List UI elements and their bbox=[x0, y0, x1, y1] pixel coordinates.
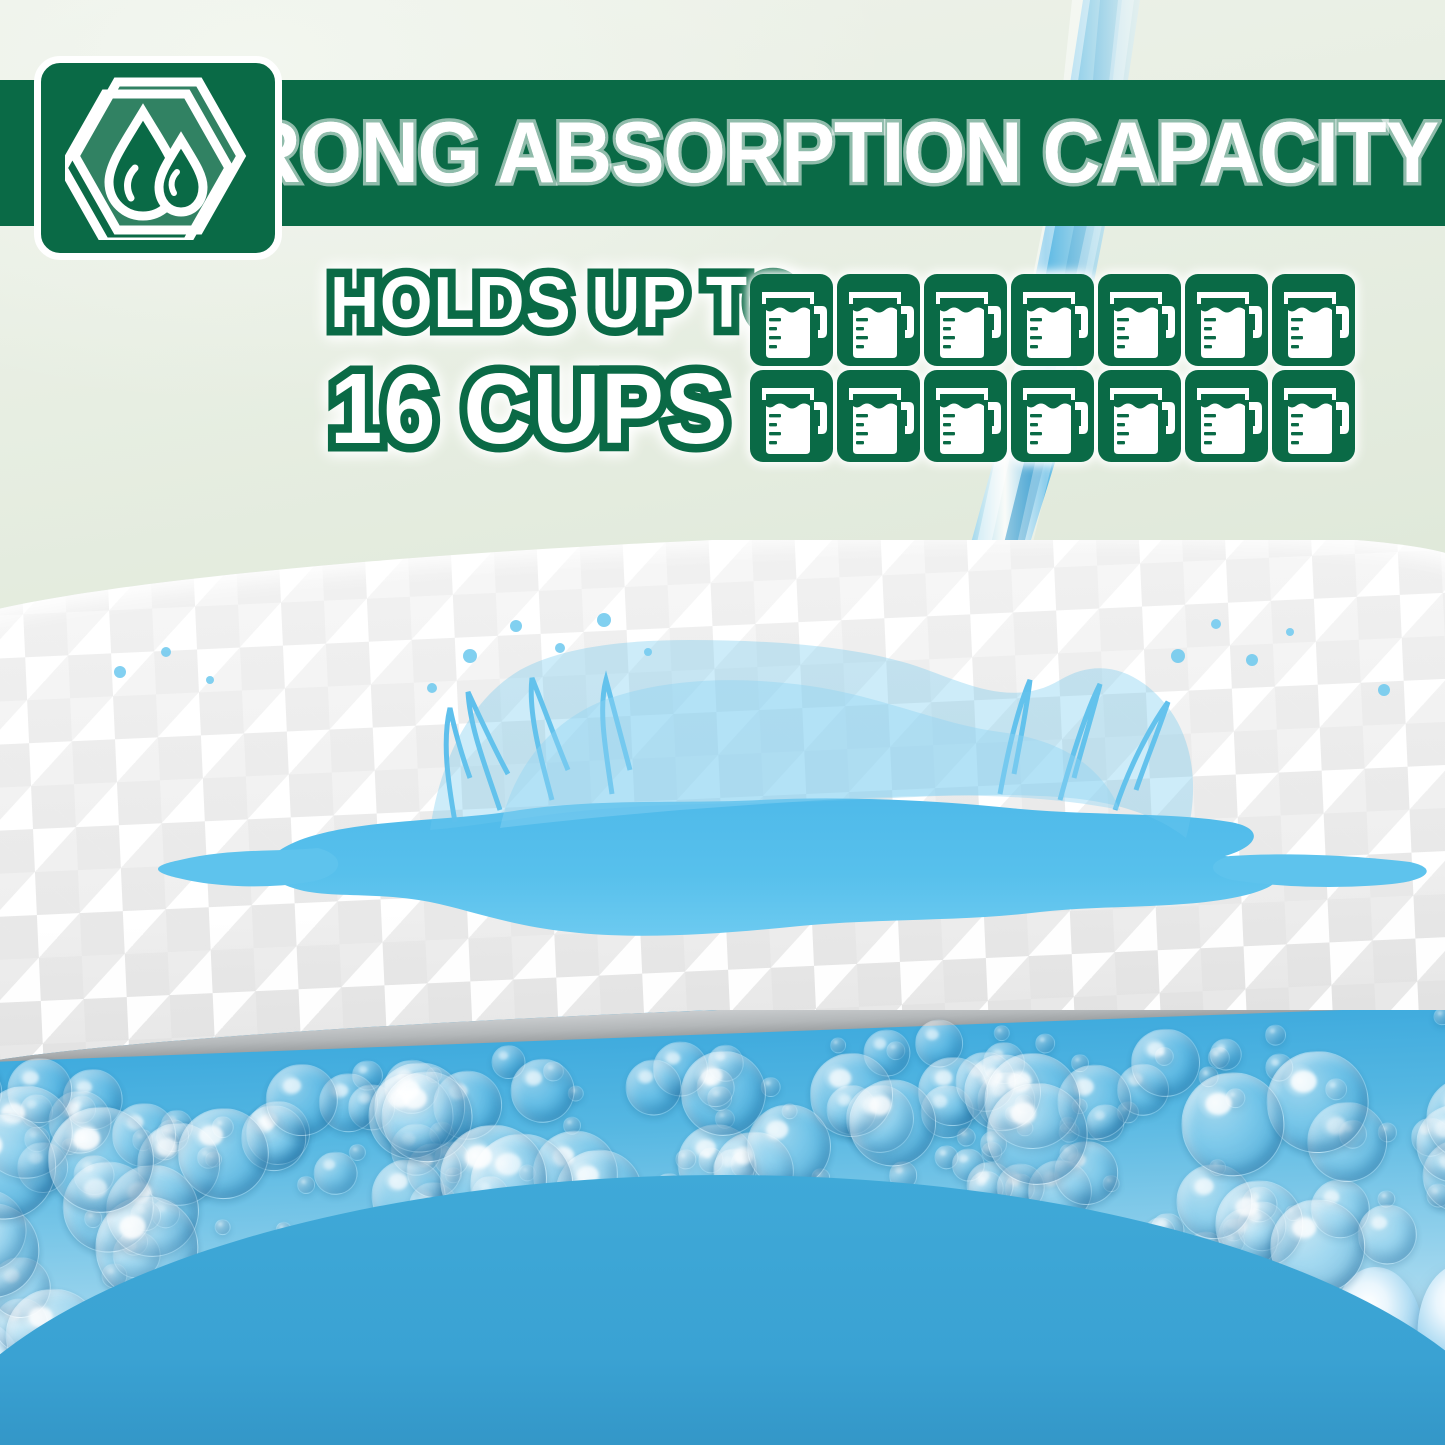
measuring-cup-icon bbox=[748, 368, 835, 464]
measuring-cup-icon bbox=[748, 272, 835, 368]
water-droplets-hexagon-icon bbox=[65, 72, 251, 245]
gel-bead bbox=[993, 1025, 1010, 1042]
measuring-cup-icon bbox=[1096, 272, 1183, 368]
brand-logo-tile bbox=[34, 56, 282, 260]
gel-bead bbox=[1034, 1033, 1055, 1054]
measuring-cup-icon bbox=[1183, 272, 1270, 368]
gel-bead bbox=[1433, 1010, 1445, 1026]
claim-line-cup-count: 16 CUPS bbox=[330, 352, 800, 467]
measuring-cup-icon bbox=[1009, 368, 1096, 464]
measuring-cup-icon bbox=[1009, 272, 1096, 368]
gel-bead bbox=[624, 1058, 682, 1116]
gel-bead bbox=[214, 1219, 231, 1236]
measuring-cup-icon bbox=[1183, 368, 1270, 464]
measuring-cup-icon bbox=[1270, 272, 1357, 368]
water-splash bbox=[0, 560, 1445, 1040]
measuring-cup-icon bbox=[835, 272, 922, 368]
gel-bead bbox=[1209, 1038, 1242, 1071]
claim-line-holds-up-to: HOLDS UP TO bbox=[330, 262, 800, 344]
measuring-cup-icon bbox=[922, 368, 1009, 464]
infographic-canvas: STRONG ABSORPTION CAPACITY HOLDS UP TO 1… bbox=[0, 0, 1445, 1445]
gel-bead bbox=[829, 1037, 846, 1054]
measuring-cup-icon bbox=[835, 368, 922, 464]
gel-bead bbox=[1265, 1024, 1286, 1045]
measuring-cup-icon bbox=[922, 272, 1009, 368]
page-title: STRONG ABSORPTION CAPACITY bbox=[396, 82, 1438, 224]
cup-icon-grid bbox=[748, 272, 1358, 464]
gel-bead bbox=[313, 1151, 358, 1196]
gel-bead bbox=[297, 1176, 315, 1194]
measuring-cup-icon bbox=[1096, 368, 1183, 464]
gel-bead bbox=[509, 1057, 576, 1124]
measuring-cup-icon bbox=[1270, 368, 1357, 464]
